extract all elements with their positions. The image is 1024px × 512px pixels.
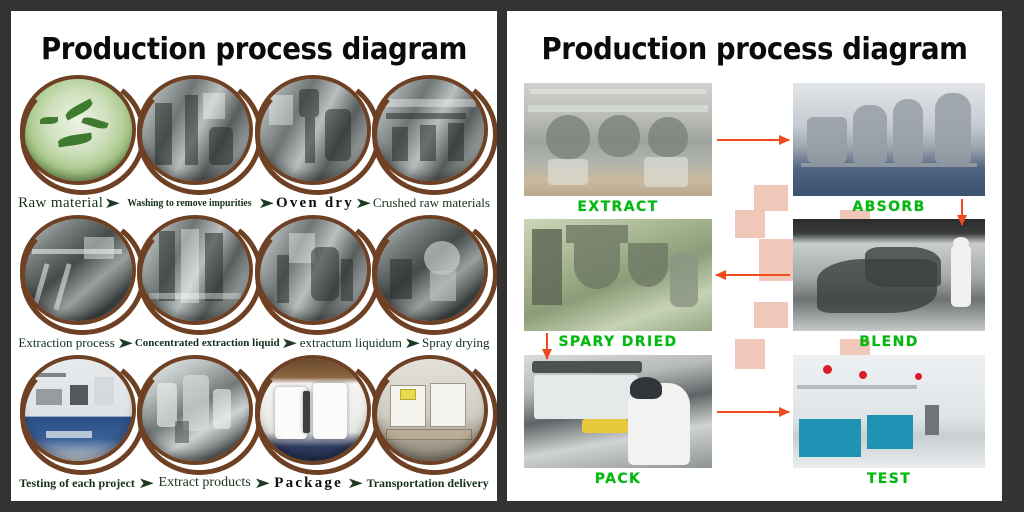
right-photo-grid: EXTRACT ABSORB bbox=[507, 77, 1002, 489]
step-row-2-images bbox=[11, 219, 497, 324]
arrow-separator-icon: ➤ bbox=[254, 476, 271, 491]
arrow-extract-to-absorb-icon bbox=[717, 134, 789, 146]
right-process-panel: Production process diagram bbox=[507, 11, 1002, 501]
arrow-pack-to-test-icon bbox=[717, 406, 789, 418]
extract-caption: EXTRACT bbox=[524, 196, 712, 215]
blend-caption: BLEND bbox=[793, 331, 985, 350]
arrow-spary-to-pack-icon bbox=[541, 333, 553, 359]
step-row-1-labels: Raw material ➤ Washing to remove impurit… bbox=[11, 190, 497, 216]
arrow-separator-icon: ➤ bbox=[258, 196, 275, 211]
washing-photo bbox=[141, 79, 249, 184]
step-row-1-images bbox=[11, 79, 497, 184]
oven-dry-photo bbox=[259, 79, 367, 184]
arrow-separator-icon: ➤ bbox=[138, 476, 155, 491]
screenshot-root: Production process diagram bbox=[0, 0, 1024, 512]
left-process-panel: Production process diagram bbox=[11, 11, 497, 501]
right-page-title: Production process diagram bbox=[527, 11, 982, 65]
spary-dried-photo bbox=[524, 219, 712, 331]
step-label-package: Package bbox=[274, 475, 343, 492]
package-photo bbox=[259, 359, 367, 464]
test-photo bbox=[793, 355, 985, 468]
left-page-title: Production process diagram bbox=[30, 11, 477, 65]
pack-caption: PACK bbox=[524, 468, 712, 487]
step-row-3: Testing of each project ➤ Extract produc… bbox=[11, 359, 497, 499]
step-label-testing-of-each-project: Testing of each project bbox=[19, 476, 135, 491]
step-label-concentrated-extraction-liquid: Concentrated extraction liquid bbox=[135, 337, 280, 349]
crushed-raw-materials-photo bbox=[376, 79, 484, 184]
pack-photo bbox=[524, 355, 712, 468]
raw-material-photo bbox=[24, 79, 132, 184]
testing-of-each-project-photo bbox=[24, 359, 132, 464]
watermark-block bbox=[735, 339, 765, 369]
step-label-transportation-delivery: Transportation delivery bbox=[367, 476, 489, 491]
blend-cell: BLEND bbox=[793, 219, 985, 331]
absorb-cell: ABSORB bbox=[793, 83, 985, 196]
step-label-extract-products: Extract products bbox=[159, 475, 251, 491]
step-label-washing: Washing to remove impurities bbox=[128, 198, 252, 209]
extraction-process-photo bbox=[24, 219, 132, 324]
step-label-oven-dry: Oven dry bbox=[276, 195, 354, 212]
watermark-block bbox=[754, 185, 788, 211]
left-step-rows: Raw material ➤ Washing to remove impurit… bbox=[11, 79, 497, 499]
step-label-spray-drying: Spray drying bbox=[422, 335, 490, 351]
watermark-block bbox=[735, 210, 765, 238]
extract-products-photo bbox=[141, 359, 249, 464]
arrow-separator-icon: ➤ bbox=[403, 336, 420, 351]
step-row-3-labels: Testing of each project ➤ Extract produc… bbox=[11, 470, 497, 496]
spary-dried-cell: SPARY DRIED bbox=[524, 219, 712, 331]
pack-cell: PACK bbox=[524, 355, 712, 468]
test-caption: TEST bbox=[793, 468, 985, 487]
extractum-liquidum-photo bbox=[259, 219, 367, 324]
step-label-extractum-liquidum: extractum liquidum bbox=[300, 335, 402, 351]
arrow-separator-icon: ➤ bbox=[116, 336, 133, 351]
extract-cell: EXTRACT bbox=[524, 83, 712, 196]
step-label-extraction-process: Extraction process bbox=[18, 335, 114, 351]
step-row-2: Extraction process ➤ Concentrated extrac… bbox=[11, 219, 497, 359]
arrow-separator-icon: ➤ bbox=[355, 196, 372, 211]
extract-photo bbox=[524, 83, 712, 196]
arrow-separator-icon: ➤ bbox=[104, 196, 121, 211]
concentrated-extraction-liquid-photo bbox=[141, 219, 249, 324]
step-row-2-labels: Extraction process ➤ Concentrated extrac… bbox=[11, 330, 497, 356]
blend-photo bbox=[793, 219, 985, 331]
step-row-1: Raw material ➤ Washing to remove impurit… bbox=[11, 79, 497, 219]
transportation-delivery-photo bbox=[376, 359, 484, 464]
arrow-separator-icon: ➤ bbox=[281, 336, 298, 351]
spray-drying-photo bbox=[376, 219, 484, 324]
arrow-separator-icon: ➤ bbox=[346, 476, 363, 491]
test-cell: TEST bbox=[793, 355, 985, 468]
step-label-raw-material: Raw material bbox=[18, 195, 103, 212]
absorb-photo bbox=[793, 83, 985, 196]
step-row-3-images bbox=[11, 359, 497, 464]
arrow-blend-to-spary-icon bbox=[716, 269, 790, 281]
step-label-crushed-raw-materials: Crushed raw materials bbox=[373, 195, 490, 211]
watermark-block bbox=[754, 302, 788, 328]
arrow-absorb-to-blend-icon bbox=[956, 199, 968, 225]
